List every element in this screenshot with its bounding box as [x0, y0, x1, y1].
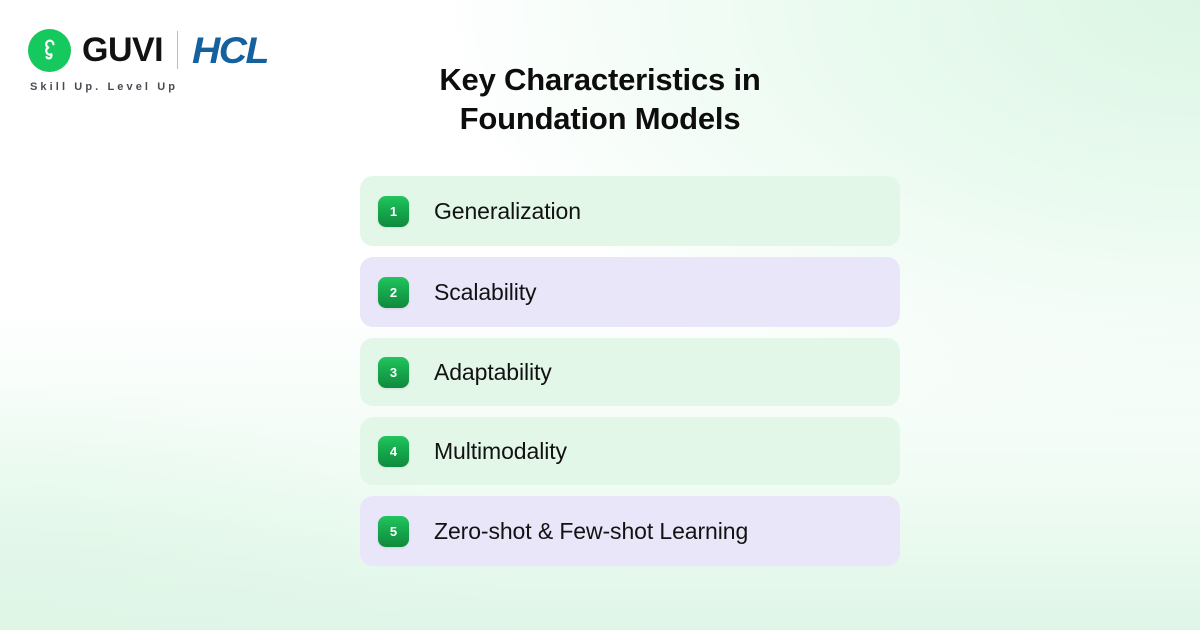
list-item-label: Zero-shot & Few-shot Learning	[434, 518, 748, 545]
brand-lockup: GUVI HCL Skill Up. Level Up	[28, 28, 264, 93]
guvi-wordmark: GUVI	[82, 33, 163, 67]
guvi-logo: GUVI	[28, 29, 163, 72]
list-item-number-badge: 5	[378, 516, 409, 547]
list-item-label: Scalability	[434, 279, 536, 306]
page-title-line-1: Key Characteristics in	[300, 60, 900, 99]
page-title: Key Characteristics in Foundation Models	[300, 60, 900, 139]
brand-row: GUVI HCL	[28, 28, 264, 72]
brand-tagline: Skill Up. Level Up	[30, 81, 178, 93]
guvi-g-logo-icon	[28, 29, 71, 72]
brand-divider	[177, 31, 178, 69]
list-item[interactable]: 2 Scalability	[360, 257, 900, 327]
list-item[interactable]: 5 Zero-shot & Few-shot Learning	[360, 496, 900, 566]
list-item-number-badge: 4	[378, 436, 409, 467]
list-item-label: Adaptability	[434, 359, 552, 386]
hcl-wordmark: HCL	[192, 32, 268, 69]
list-item-label: Generalization	[434, 198, 581, 225]
list-item-number-badge: 1	[378, 196, 409, 227]
list-item-number-badge: 3	[378, 357, 409, 388]
list-item-label: Multimodality	[434, 438, 567, 465]
list-item[interactable]: 1 Generalization	[360, 176, 900, 246]
page-title-line-2: Foundation Models	[300, 99, 900, 138]
list-item[interactable]: 4 Multimodality	[360, 417, 900, 485]
list-item-number-badge: 2	[378, 277, 409, 308]
characteristics-list: 1 Generalization 2 Scalability 3 Adaptab…	[360, 176, 900, 577]
slide-canvas: GUVI HCL Skill Up. Level Up Key Characte…	[0, 0, 1200, 630]
list-item[interactable]: 3 Adaptability	[360, 338, 900, 406]
